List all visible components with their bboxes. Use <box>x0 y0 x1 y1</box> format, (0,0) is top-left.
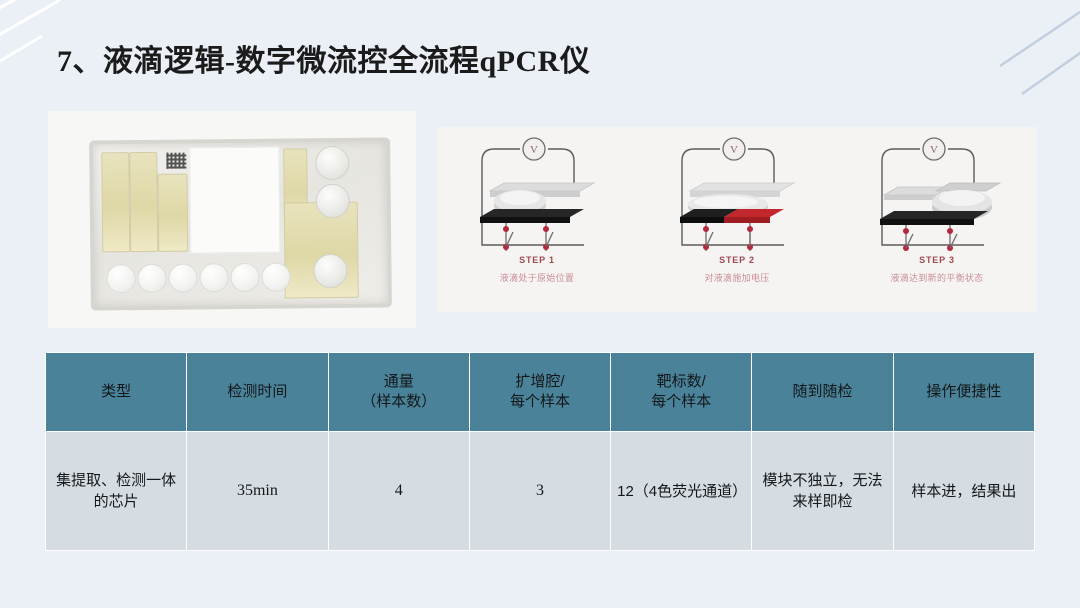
electrowetting-diagram-panel: V STEP 1 液滴处于原始位置 V <box>437 127 1037 312</box>
cell-detection-time: 35min <box>187 432 327 550</box>
table-row: 集提取、检测一体的芯片 35min 4 3 12（4色荧光通道） 模块不独立，无… <box>46 432 1034 550</box>
step-3-caption: 液滴达到新的平衡状态 <box>837 271 1037 284</box>
step-2: V STEP 2 对液滴施加电压 <box>637 127 837 312</box>
step-2-label: STEP 2 <box>637 255 837 265</box>
step-2-caption: 对液滴施加电压 <box>637 271 837 284</box>
header-line-1: 扩增腔/ <box>515 373 564 390</box>
column-header-targets-per-sample: 靶标数/ 每个样本 <box>611 353 751 431</box>
header-line-1: 检测时间 <box>227 383 287 400</box>
header-line-1: 类型 <box>101 383 131 400</box>
step-1-caption: 液滴处于原始位置 <box>437 271 637 284</box>
cell-chambers-per-sample: 3 <box>470 432 610 550</box>
cell-targets-per-sample: 12（4色荧光通道） <box>611 432 751 550</box>
header-line-2: 每个样本 <box>474 392 606 412</box>
column-header-type: 类型 <box>46 353 186 431</box>
chip-well-cap <box>137 264 166 293</box>
header-line-1: 靶标数/ <box>657 373 706 390</box>
microfluidic-chip-illustration <box>89 137 392 310</box>
column-header-ease-of-operation: 操作便捷性 <box>894 353 1034 431</box>
voltmeter-symbol: V <box>930 144 938 156</box>
column-header-throughput: 通量 （样本数） <box>329 353 469 431</box>
step-3: V STEP 3 液滴达到新的平衡状态 <box>837 127 1037 312</box>
step-3-schematic: V <box>862 133 1012 258</box>
qpcr-instrument-comparison-table: 类型 检测时间 通量 （样本数） 扩增腔/ 每个样本 靶标数/ 每个样本 随到随… <box>45 352 1035 551</box>
chip-port-cap <box>315 146 349 180</box>
column-header-chambers-per-sample: 扩增腔/ 每个样本 <box>470 353 610 431</box>
voltmeter-symbol: V <box>530 144 538 156</box>
chip-reaction-window <box>189 147 280 254</box>
header-line-2: （样本数） <box>333 392 465 412</box>
header-line-1: 操作便捷性 <box>926 383 1001 400</box>
chip-port-cap <box>316 184 350 218</box>
chip-barcode <box>166 153 186 169</box>
chip-well-cap <box>168 263 197 292</box>
column-header-detection-time: 检测时间 <box>187 353 327 431</box>
header-line-1: 随到随检 <box>793 383 853 400</box>
chip-well-cap <box>199 263 228 292</box>
chip-reagent-well <box>101 152 130 252</box>
step-1-label: STEP 1 <box>437 255 637 265</box>
step-1: V STEP 1 液滴处于原始位置 <box>437 127 637 312</box>
header-line-2: 每个样本 <box>615 392 747 412</box>
chip-well-cap <box>230 263 259 292</box>
header-line-1: 通量 <box>384 373 414 390</box>
cell-walk-in-testing: 模块不独立，无法来样即检 <box>752 432 892 550</box>
page-title: 7、液滴逻辑-数字微流控全流程qPCR仪 <box>57 36 590 80</box>
step-2-schematic: V <box>662 133 812 258</box>
column-header-walk-in-testing: 随到随检 <box>752 353 892 431</box>
cell-throughput: 4 <box>329 432 469 550</box>
table-header-row: 类型 检测时间 通量 （样本数） 扩增腔/ 每个样本 靶标数/ 每个样本 随到随… <box>46 353 1034 431</box>
voltmeter-symbol: V <box>730 144 738 156</box>
cartridge-photo-panel <box>48 111 416 328</box>
decorative-lines-top-right <box>930 0 1080 114</box>
chip-reagent-well <box>129 152 158 252</box>
chip-port-cap <box>313 254 347 288</box>
chip-well-cap <box>106 264 135 293</box>
chip-reagent-well <box>157 174 188 252</box>
step-1-schematic: V <box>462 133 612 258</box>
cell-type: 集提取、检测一体的芯片 <box>46 432 186 550</box>
chip-well-cap <box>261 262 290 291</box>
cell-ease-of-operation: 样本进，结果出 <box>894 432 1034 550</box>
step-3-label: STEP 3 <box>837 255 1037 265</box>
